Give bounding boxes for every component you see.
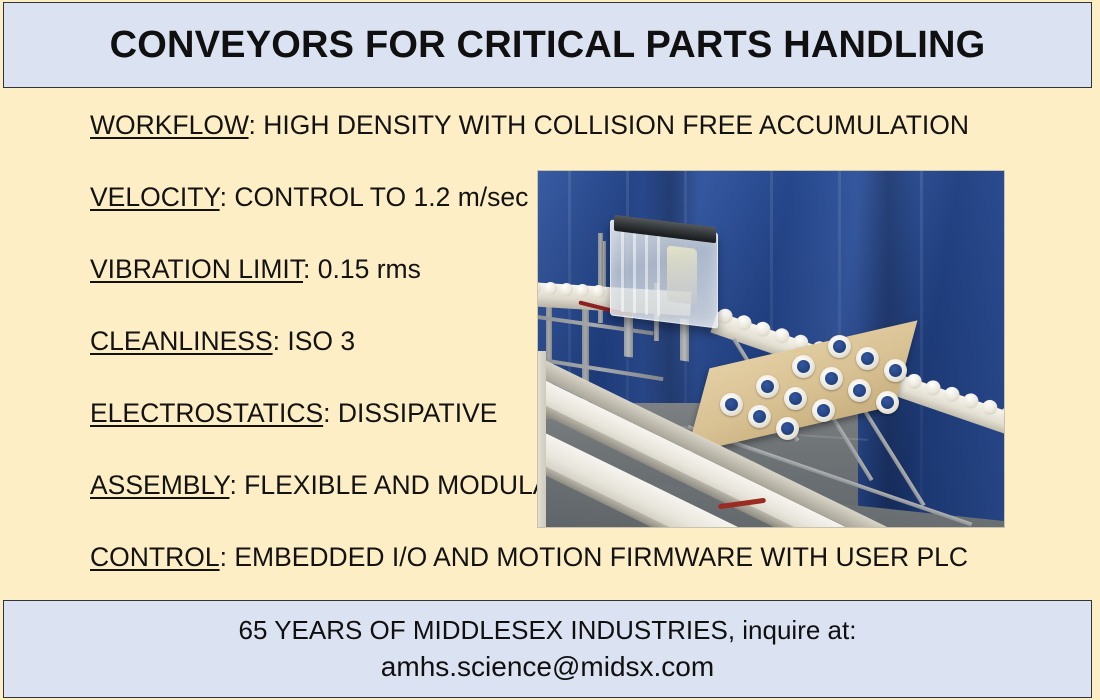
spec-value-vibration-limit: 0.15 rms [318,254,421,284]
spec-value-control: EMBEDDED I/O AND MOTION FIRMWARE WITH US… [234,542,968,572]
spec-separator: : [220,182,235,212]
part-holder [792,355,815,378]
part-holder [884,359,907,382]
roller [592,285,605,298]
page-title: CONVEYORS FOR CRITICAL PARTS HANDLING [110,26,986,64]
roller [537,281,541,294]
part-holder [876,391,899,414]
frame-upright-left [537,351,546,528]
footer-bar: 65 YEARS OF MIDDLESEX INDUSTRIES, inquir… [3,600,1092,698]
part-holder [748,405,771,428]
spec-separator: : [249,110,264,140]
carrier-stand [624,312,633,357]
spec-value-electrostatics: DISSIPATIVE [338,398,498,428]
spec-label-control: CONTROL [90,542,220,572]
footer-tagline: 65 YEARS OF MIDDLESEX INDUSTRIES, inquir… [239,614,857,647]
carrier-rib [633,229,636,313]
spec-label-cleanliness: CLEANLINESS [90,326,273,356]
footer-email[interactable]: amhs.science@midsx.com [381,649,714,684]
roller [544,282,557,295]
wafer-holder-group [700,349,906,427]
spec-separator: : [220,542,235,572]
roller [576,284,589,297]
part-holder [776,417,799,440]
part-holder [812,399,835,422]
carrier-rib [621,228,624,312]
roller [560,283,573,296]
spec-separator: : [323,398,338,428]
spec-label-electrostatics: ELECTROSTATICS [90,398,323,428]
spec-label-assembly: ASSEMBLY [90,470,229,500]
carrier-rib [657,232,660,316]
part-holder [756,375,779,398]
curtain-fold [920,171,923,527]
spec-label-velocity: VELOCITY [90,182,220,212]
part-holder [784,387,807,410]
part-holder [856,347,879,370]
carrier-window [667,245,697,305]
spec-separator: : [303,254,318,284]
part-holder [820,367,843,390]
conveyor-photo [537,170,1005,528]
carrier-rib [645,231,648,315]
spec-separator: : [273,326,288,356]
spec-value-assembly: FLEXIBLE AND MODULAR [244,470,569,500]
spec-separator: : [229,470,244,500]
spec-value-workflow: HIGH DENSITY WITH COLLISION FREE ACCUMUL… [263,110,969,140]
slide-root: CONVEYORS FOR CRITICAL PARTS HANDLING WO… [0,0,1100,700]
part-holder [848,379,871,402]
spec-label-vibration-limit: VIBRATION LIMIT [90,254,303,284]
spec-label-workflow: WORKFLOW [90,110,249,140]
spec-value-velocity: CONTROL TO 1.2 m/sec [234,182,528,212]
header-bar: CONVEYORS FOR CRITICAL PARTS HANDLING [3,2,1092,88]
spec-value-cleanliness: ISO 3 [287,326,355,356]
part-holder [720,393,743,416]
part-holder [828,335,851,358]
